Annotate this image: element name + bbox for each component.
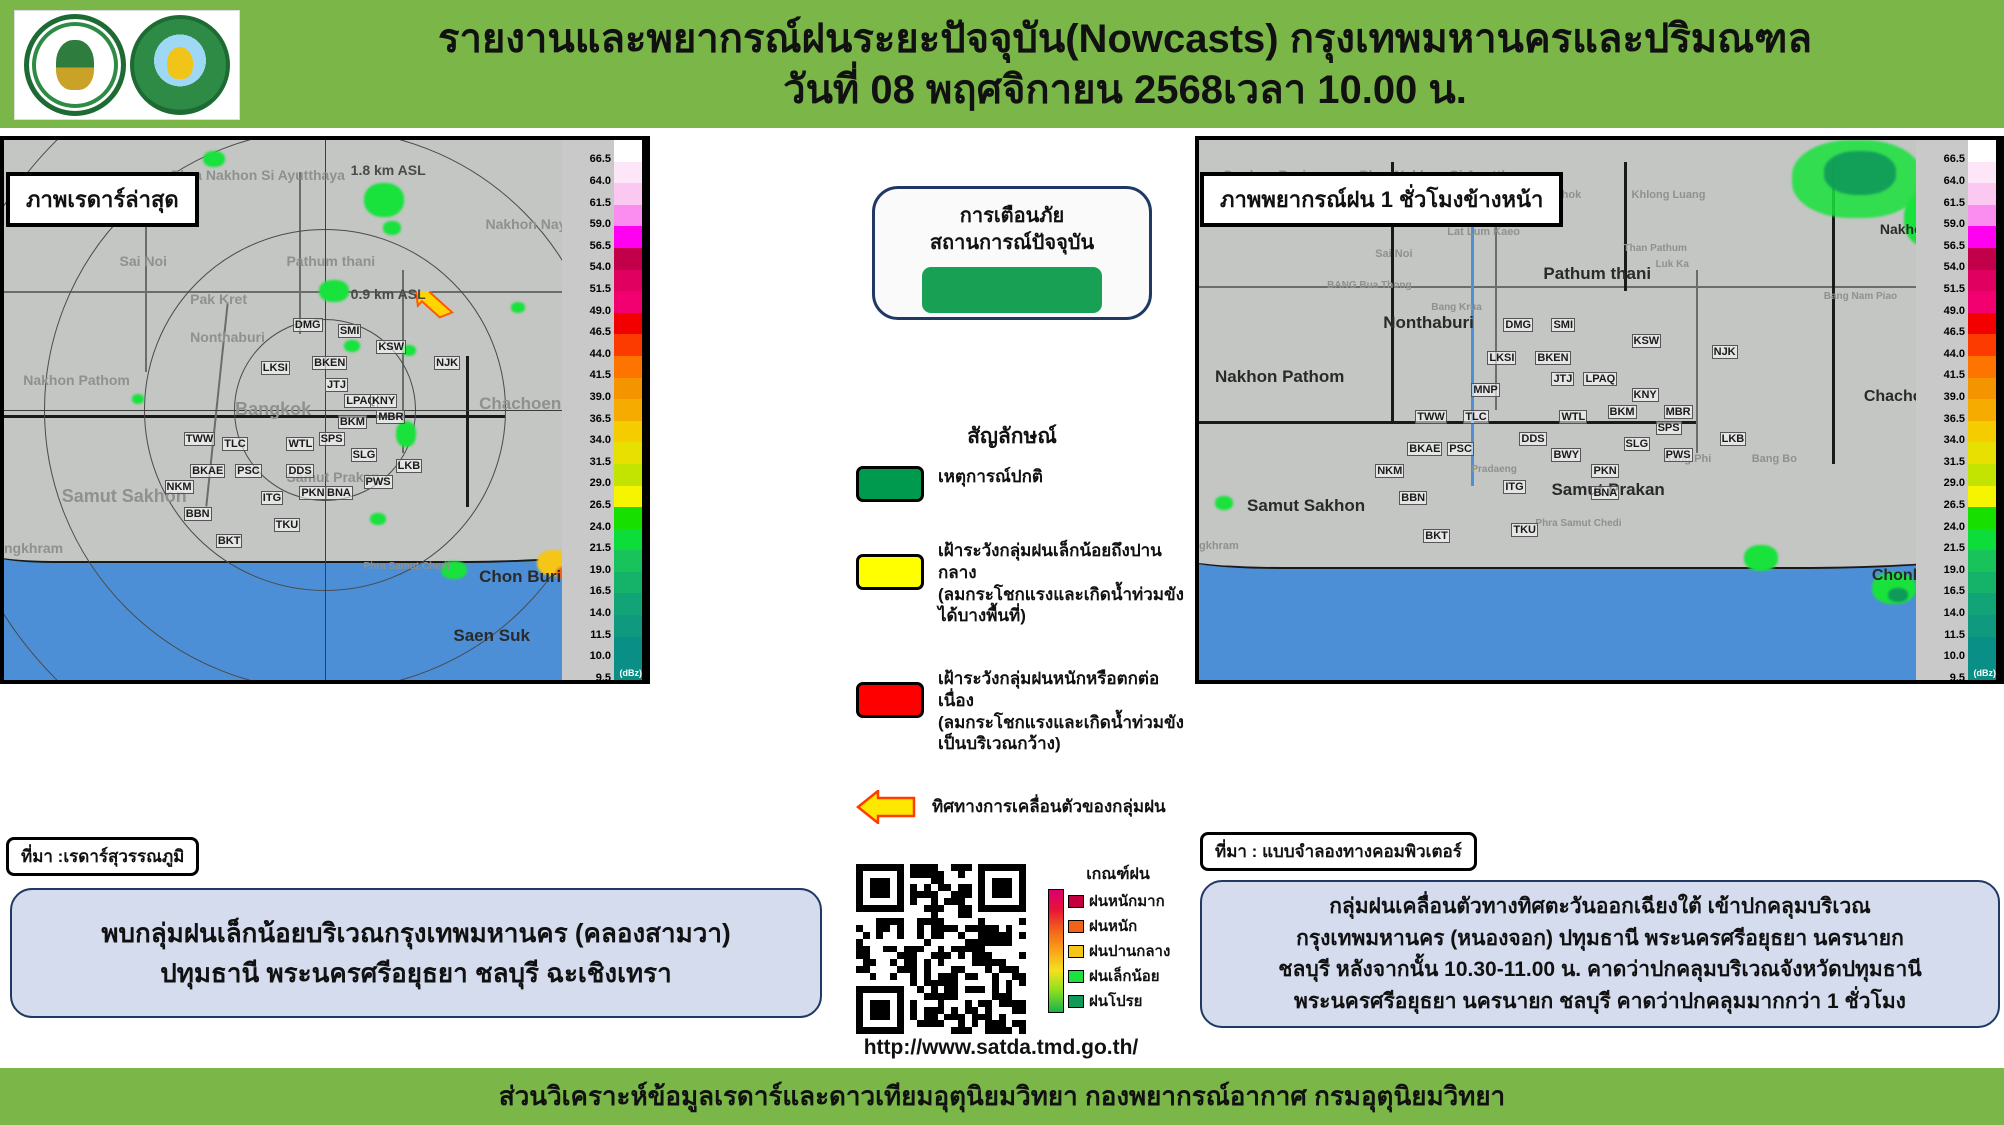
qr-module [1019,946,1026,953]
qr-module [1019,973,1026,980]
qr-module [965,878,972,885]
qr-module [870,986,877,993]
station-code: PSC [235,464,262,478]
qr-module [870,1020,877,1027]
qr-module [992,878,999,885]
qr-module [876,1027,883,1034]
qr-module [958,946,965,953]
qr-module [1006,925,1013,932]
qr-module [897,1027,904,1034]
qr-module [1012,871,1019,878]
qr-module [876,939,883,946]
qr-module [1006,1020,1013,1027]
qr-module [938,959,945,966]
qr-code-icon[interactable] [856,864,1026,1034]
qr-module [1006,946,1013,953]
qr-module [876,884,883,891]
qr-module [876,952,883,959]
qr-module [951,959,958,966]
qr-module [883,986,890,993]
qr-module [965,918,972,925]
province-border [1696,270,1698,454]
colorbar-tick: 11.5 [1944,629,1965,641]
qr-module [856,952,863,959]
qr-module [1019,993,1026,1000]
qr-module [863,966,870,973]
qr-module [944,864,951,871]
station-code: MNP [1471,383,1499,397]
qr-module [978,932,985,939]
qr-module [972,986,979,993]
current-alert-card[interactable]: การเตือนภัย สถานการณ์ปัจจุบัน [872,186,1152,320]
qr-module [992,966,999,973]
qr-module [897,946,904,953]
symbol-legend-title: สัญลักษณ์ [872,420,1152,453]
qr-module [938,898,945,905]
qr-module [938,973,945,980]
qr-module [958,1027,965,1034]
qr-module [1019,1020,1026,1027]
qr-module [999,939,1006,946]
qr-module [1006,1000,1013,1007]
qr-module [870,878,877,885]
colorbar-tick: 44.0 [1944,348,1965,360]
colorbar-band [1968,529,1996,551]
qr-module [1019,884,1026,891]
qr-module [910,918,917,925]
qr-module [876,973,883,980]
colorbar-tick: 19.0 [590,564,611,576]
qr-module [910,925,917,932]
qr-module [1019,932,1026,939]
qr-module [999,898,1006,905]
qr-module [951,946,958,953]
colorbar-band [1968,550,1996,572]
qr-module [904,925,911,932]
qr-module [958,898,965,905]
qr-module [917,980,924,987]
colorbar-band [614,162,642,184]
colorbar-gradient [1968,140,1996,680]
qr-module [904,966,911,973]
station-code: JTJ [325,378,348,392]
qr-module [917,993,924,1000]
qr-module [999,952,1006,959]
colorbar-band [614,291,642,313]
colorbar-tick: 29.0 [590,477,611,489]
qr-module [883,966,890,973]
qr-module [951,1007,958,1014]
qr-module [870,864,877,871]
qr-module [978,952,985,959]
qr-module [917,898,924,905]
qr-module [856,966,863,973]
qr-module [972,871,979,878]
qr-module [958,884,965,891]
qr-module [951,925,958,932]
qr-module [931,1014,938,1021]
qr-module [985,952,992,959]
qr-module [992,980,999,987]
station-code: BBN [1399,491,1427,505]
storm-motion-arrow-icon [408,291,456,331]
station-code: SPS [1656,421,1682,435]
qr-module [938,1027,945,1034]
forecast-summary-line: พระนครศรีอยุธยา นครนายก ชลบุรี คาดว่าปกค… [1294,986,1906,1018]
forecast-echo [1215,496,1233,510]
qr-module [999,864,1006,871]
qr-module [931,932,938,939]
province-border-major [1624,162,1627,292]
qr-module [924,973,931,980]
qr-module [917,925,924,932]
qr-module [890,1027,897,1034]
qr-module [904,878,911,885]
qr-module [904,891,911,898]
qr-module [904,918,911,925]
qr-module [924,966,931,973]
qr-module [999,959,1006,966]
qr-module [965,986,972,993]
qr-module [999,966,1006,973]
rain-scale-chip [1068,995,1084,1008]
qr-module [876,1007,883,1014]
legend-label: เฝ้าระวังกลุ่มฝนเล็กน้อยถึงปานกลาง (ลมกร… [938,540,1186,627]
qr-module [944,884,951,891]
qr-module [972,925,979,932]
qr-module [931,878,938,885]
qr-module [863,925,870,932]
qr-module [999,912,1006,919]
qr-module [972,1007,979,1014]
station-code: DMG [293,318,323,332]
qr-module [856,959,863,966]
station-code: ITG [261,491,283,505]
qr-module [924,898,931,905]
qr-module [931,864,938,871]
qr-module [978,1027,985,1034]
website-url[interactable]: http://www.satda.tmd.go.th/ [836,1036,1166,1060]
qr-module [883,864,890,871]
colorbar-tick-labels: 66.564.061.559.056.554.051.549.046.544.0… [1916,140,1968,680]
qr-module [924,932,931,939]
colorbar-tick: 24.0 [590,521,611,533]
qr-module [999,884,1006,891]
qr-module [883,932,890,939]
radar-source-label: ที่มา :เรดาร์สุวรรณภูมิ [6,837,199,876]
qr-module [856,925,863,932]
station-code: LKSI [1487,351,1516,365]
qr-module [917,1020,924,1027]
qr-module [1006,993,1013,1000]
qr-module [910,973,917,980]
qr-module [904,993,911,1000]
qr-module [924,891,931,898]
qr-module [965,891,972,898]
qr-module [1006,932,1013,939]
qr-module [1006,939,1013,946]
qr-module [904,905,911,912]
qr-module [924,946,931,953]
qr-module [924,1014,931,1021]
qr-module [1012,898,1019,905]
qr-module [856,980,863,987]
qr-module [863,986,870,993]
qr-module [1019,871,1026,878]
qr-module [1019,864,1026,871]
colorbar-band [614,399,642,421]
qr-module [1012,986,1019,993]
qr-module [917,1007,924,1014]
qr-module [958,925,965,932]
colorbar-band [1968,507,1996,529]
qr-module [890,898,897,905]
colorbar-band [614,464,642,486]
qr-module [938,864,945,871]
qr-module [992,1020,999,1027]
qr-module [876,932,883,939]
qr-module [978,939,985,946]
station-code: DMG [1503,318,1533,332]
qr-module [958,1014,965,1021]
qr-module [965,952,972,959]
colorbar-tick: 64.0 [590,175,611,187]
qr-module [856,939,863,946]
qr-module [1006,884,1013,891]
qr-module [999,946,1006,953]
qr-module [897,939,904,946]
station-code: PWS [1664,448,1693,462]
qr-module [863,980,870,987]
qr-module [870,1000,877,1007]
province-border-major [1199,421,1696,424]
legend-item-motion-arrow: ทิศทางการเคลื่อนตัวของกลุ่มฝน [856,790,1186,824]
qr-module [992,946,999,953]
qr-module [958,973,965,980]
qr-module [1019,1014,1026,1021]
qr-module [972,1020,979,1027]
qr-module [951,864,958,871]
rain-echo [383,221,401,235]
qr-module [1006,986,1013,993]
qr-module [978,1007,985,1014]
colorbar-tick: 24.0 [1944,521,1965,533]
qr-module [1012,1027,1019,1034]
qr-module [1006,980,1013,987]
qr-module [992,959,999,966]
qr-module [931,973,938,980]
qr-module [870,871,877,878]
rain-scale-item: ฝนหนัก [1068,914,1170,938]
legend-swatch-yellow [856,554,924,590]
colorbar-band [1968,572,1996,594]
qr-module [924,939,931,946]
colorbar-tick: 31.5 [590,456,611,468]
qr-module [897,952,904,959]
qr-module [972,918,979,925]
qr-module [1012,1000,1019,1007]
qr-module [883,959,890,966]
qr-module [978,905,985,912]
qr-module [999,932,1006,939]
qr-module [985,912,992,919]
qr-module [856,946,863,953]
qr-module [876,946,883,953]
qr-module [992,952,999,959]
qr-module [863,912,870,919]
qr-module [876,864,883,871]
qr-module [863,891,870,898]
qr-module [897,864,904,871]
qr-module [931,1007,938,1014]
qr-module [999,878,1006,885]
qr-module [978,1020,985,1027]
qr-module [863,1007,870,1014]
qr-module [910,1007,917,1014]
qr-module [924,864,931,871]
colorbar-band [1968,442,1996,464]
qr-module [992,973,999,980]
qr-module [897,871,904,878]
qr-module [917,946,924,953]
colorbar-tick: 16.5 [590,585,611,597]
qr-module [890,1000,897,1007]
qr-module [924,918,931,925]
qr-module [999,993,1006,1000]
qr-module [863,946,870,953]
qr-module [972,952,979,959]
qr-module [951,1020,958,1027]
forecast-echo [1744,545,1778,571]
province-border [1199,286,2000,288]
qr-module [951,898,958,905]
qr-module [883,884,890,891]
qr-module [972,878,979,885]
qr-module [890,939,897,946]
qr-module [965,1000,972,1007]
qr-module [992,918,999,925]
qr-module [924,912,931,919]
qr-module [883,1027,890,1034]
qr-module [999,980,1006,987]
qr-module [863,952,870,959]
qr-module [985,891,992,898]
forecast-summary-line: กลุ่มฝนเคลื่อนตัวทางทิศตะวันออกเฉียงใต้ … [1329,891,1871,923]
alert-title-line1: การเตือนภัย [960,203,1065,230]
qr-module [992,1014,999,1021]
legend-item-watch-light: เฝ้าระวังกลุ่มฝนเล็กน้อยถึงปานกลาง (ลมกร… [856,540,1186,627]
qr-module [863,959,870,966]
qr-module [917,932,924,939]
qr-module [1019,912,1026,919]
rain-scale-item: ฝนปานกลาง [1068,939,1170,963]
qr-module [931,918,938,925]
qr-module [958,1007,965,1014]
qr-module [944,946,951,953]
qr-module [890,871,897,878]
qr-module [965,1020,972,1027]
qr-module [1006,912,1013,919]
qr-module [870,898,877,905]
rain-scale-item: ฝนเล็กน้อย [1068,964,1170,988]
qr-module [972,912,979,919]
qr-module [883,905,890,912]
colorbar-band [614,421,642,443]
qr-module [910,1014,917,1021]
qr-module [931,925,938,932]
qr-module [856,871,863,878]
qr-module [883,1000,890,1007]
colorbar-tick: 66.5 [1944,153,1965,165]
qr-module [924,1020,931,1027]
qr-module [938,925,945,932]
qr-module [985,1014,992,1021]
qr-module [965,993,972,1000]
station-code: SMI [1551,318,1575,332]
qr-module [1012,980,1019,987]
qr-module [958,986,965,993]
qr-module [870,1014,877,1021]
colorbar-band [614,270,642,292]
colorbar-band [614,334,642,356]
qr-module [958,980,965,987]
qr-module [890,905,897,912]
station-code: MBR [376,410,405,424]
qr-module [958,939,965,946]
colorbar-band [1968,183,1996,205]
qr-module [992,932,999,939]
colorbar-band [614,550,642,572]
qr-module [904,864,911,871]
qr-module [951,884,958,891]
qr-module [890,918,897,925]
qr-module [897,925,904,932]
station-code: DDS [1519,432,1546,446]
station-code: MBR [1664,405,1693,419]
colorbar-band [1968,313,1996,335]
qr-module [924,993,931,1000]
qr-module [1012,891,1019,898]
qr-module [944,1014,951,1021]
qr-module [870,932,877,939]
qr-module [910,966,917,973]
qr-module [856,905,863,912]
qr-module [985,1000,992,1007]
qr-module [863,932,870,939]
qr-module [890,1020,897,1027]
qr-module [876,925,883,932]
royal-seal-logo [24,14,126,116]
colorbar-band [1968,615,1996,637]
qr-module [1019,925,1026,932]
qr-module [938,993,945,1000]
forecast-echo [1824,151,1896,195]
qr-module [985,864,992,871]
colorbar-tick: 10.0 [590,650,611,662]
qr-module [924,1000,931,1007]
qr-module [944,878,951,885]
station-code: ITG [1503,480,1525,494]
qr-module [992,884,999,891]
qr-module [938,878,945,885]
qr-module [1006,878,1013,885]
storm-direction-arrow-icon [856,790,918,824]
colorbar-tick: 41.5 [1944,369,1965,381]
colorbar-tick: 19.0 [1944,564,1965,576]
colorbar-band [614,486,642,508]
rain-echo [344,340,360,352]
qr-module [944,973,951,980]
